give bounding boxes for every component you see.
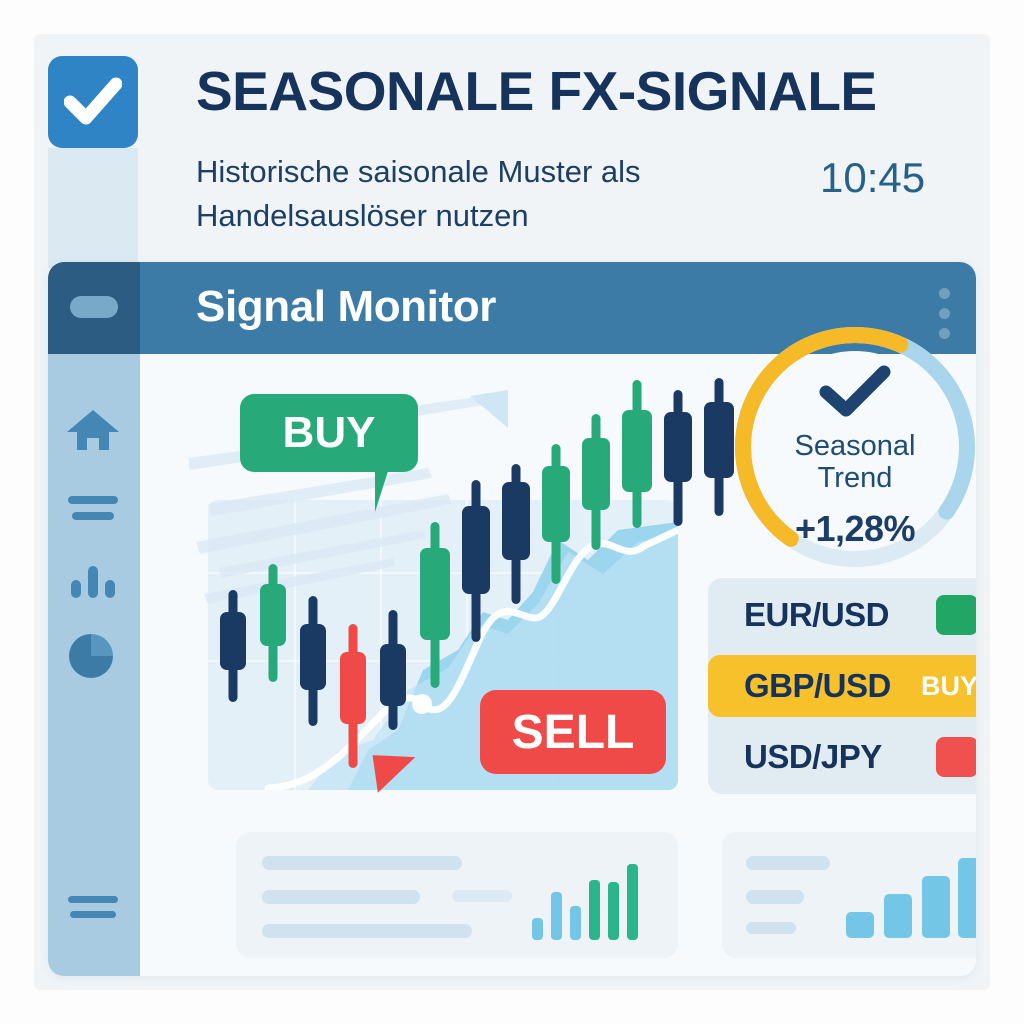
card-title: Signal Monitor: [196, 282, 496, 332]
bar-chart-icon: [69, 566, 117, 598]
candle: [420, 522, 450, 688]
skeleton-line: [262, 856, 462, 870]
candle: [502, 464, 530, 604]
pie-chart-icon: [67, 634, 119, 678]
gauge-label-line1: Seasonal: [710, 430, 976, 462]
summary-panel-right[interactable]: [722, 832, 976, 958]
pair-row-gbpusd[interactable]: GBP/USD BUY: [708, 655, 976, 717]
candle: [542, 444, 570, 584]
sidebar-item-menu[interactable]: [48, 894, 138, 920]
sidebar-item-pie[interactable]: [48, 634, 138, 678]
sidebar-item-home[interactable]: [48, 406, 138, 454]
candle: [462, 480, 490, 642]
candle: [260, 564, 286, 682]
skeleton-line: [452, 890, 512, 902]
candle: [622, 380, 652, 528]
dot: [939, 288, 950, 299]
check-icon: [64, 76, 122, 128]
candle: [664, 390, 692, 526]
pair-row-eurusd[interactable]: EUR/USD: [708, 584, 976, 646]
gauge-value: +1,28%: [710, 508, 976, 550]
sidebar: [48, 354, 140, 976]
signal-monitor-card: Signal Monitor: [48, 262, 976, 976]
currency-pair-list: EUR/USD GBP/USD BUY USD/JPY: [708, 578, 976, 794]
bar-chart-right: [846, 850, 976, 938]
pair-name: EUR/USD: [744, 596, 889, 634]
pair-signal-tag: BUY: [921, 671, 976, 702]
triangle-up-marker: [470, 390, 508, 428]
summary-panel-left[interactable]: [236, 832, 678, 958]
candle: [340, 624, 366, 768]
page-title: SEASONALE FX-SIGNALE: [196, 62, 986, 120]
buy-signal-badge[interactable]: BUY: [240, 394, 418, 472]
skeleton-line: [262, 924, 472, 938]
card-body: BUY SELL Sea: [48, 354, 976, 976]
pair-row-usdjpy[interactable]: USD/JPY: [708, 726, 976, 788]
candlestick-chart[interactable]: BUY SELL: [178, 372, 678, 794]
screenshot-root: SEASONALE FX-SIGNALE Historische saisona…: [0, 0, 1024, 1024]
sparkline-bars-left: [532, 856, 650, 940]
skeleton-line: [746, 922, 796, 934]
triangle-down-marker: [373, 749, 420, 792]
sidebar-item-bars[interactable]: [48, 566, 138, 598]
check-icon: [818, 364, 892, 420]
home-icon: [65, 406, 121, 454]
sell-label: SELL: [512, 705, 635, 760]
gauge-label-line2: Trend: [710, 462, 976, 494]
status-swatch-green: [936, 595, 976, 635]
buy-bubble-tail: [375, 468, 409, 512]
pair-name: USD/JPY: [744, 738, 882, 776]
candle: [380, 610, 406, 730]
gauge-label: Seasonal Trend: [710, 430, 976, 495]
page-subtitle: Historische saisonale Muster als Handels…: [196, 150, 776, 238]
clock-label: 10:45: [820, 154, 925, 202]
sidebar-strip-top: [48, 148, 138, 268]
menu-icon: [68, 894, 118, 920]
skeleton-line: [262, 890, 420, 904]
status-swatch-red: [936, 737, 976, 777]
candle: [582, 414, 610, 550]
sidebar-item-list[interactable]: [48, 494, 138, 522]
sell-signal-badge[interactable]: SELL: [480, 690, 666, 774]
seasonal-trend-gauge[interactable]: Seasonal Trend +1,28%: [710, 302, 976, 592]
status-check-badge[interactable]: [48, 56, 138, 148]
candle: [220, 590, 246, 702]
card-header-badge: [48, 262, 140, 354]
skeleton-line: [746, 856, 830, 870]
list-icon: [68, 494, 118, 522]
skeleton-line: [746, 890, 804, 904]
buy-label: BUY: [283, 408, 376, 458]
candle: [300, 596, 326, 726]
pair-name: GBP/USD: [744, 667, 891, 705]
header-pill-icon: [70, 296, 118, 318]
